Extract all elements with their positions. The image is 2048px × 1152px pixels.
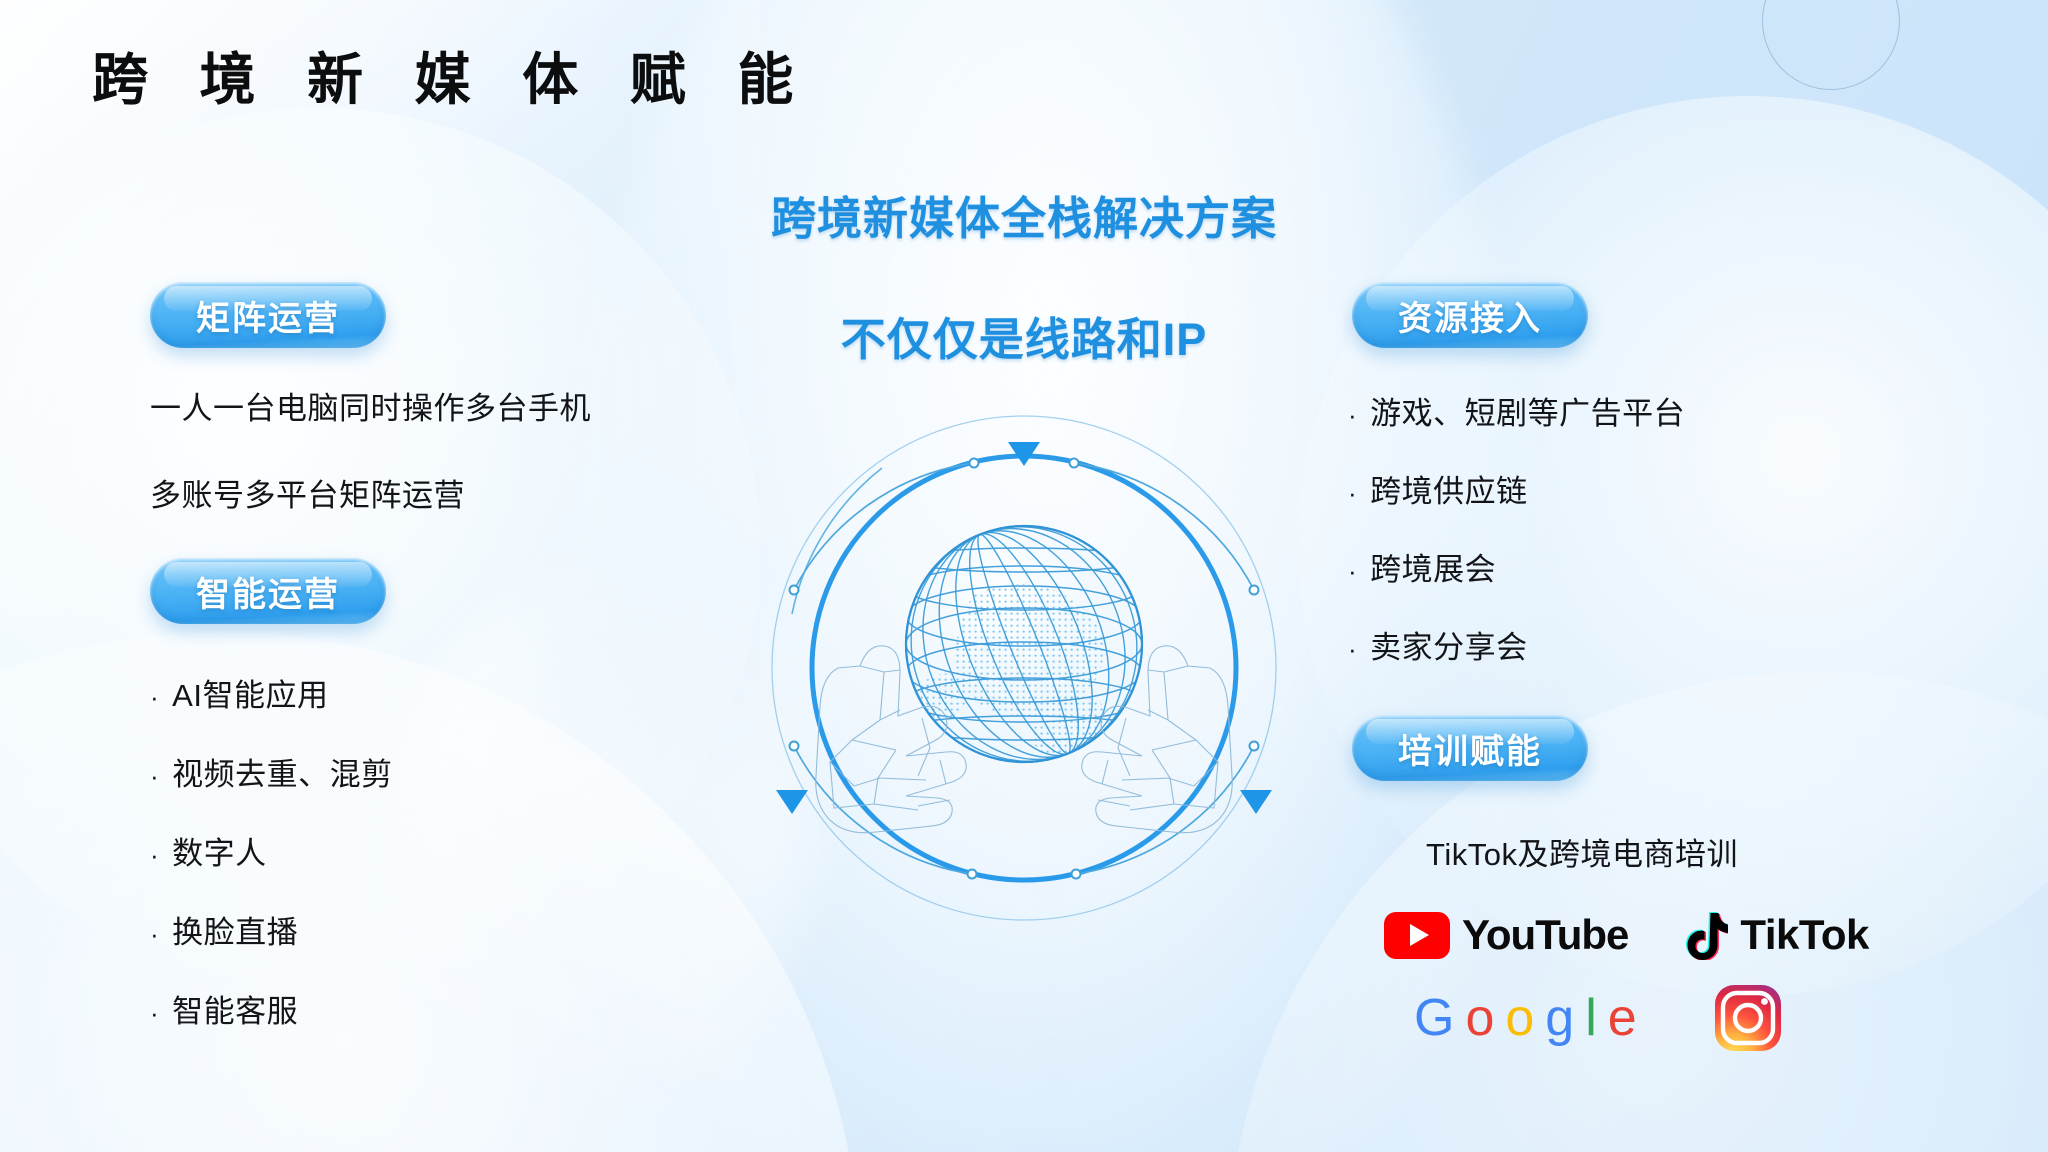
bullet-dot-icon: · <box>1348 636 1357 662</box>
youtube-logo: YouTube <box>1384 911 1628 959</box>
badge-resource-access[interactable]: 资源接入 <box>1352 282 1588 348</box>
training-description: TikTok及跨境电商培训 <box>1352 829 1812 874</box>
google-letter-g1: G <box>1414 988 1453 1048</box>
globe-in-hands-illustration <box>764 408 1284 928</box>
google-letter-o2: o <box>1505 988 1533 1048</box>
list-item: · 游戏、短剧等广告平台 <box>1348 388 1898 433</box>
list-item-label: 跨境供应链 <box>1370 466 1528 511</box>
instagram-camera-icon <box>1714 984 1782 1052</box>
list-item: · 智能客服 <box>150 986 710 1031</box>
logo-row-bottom: Google <box>1414 984 1898 1052</box>
list-item-label: 智能客服 <box>172 986 298 1031</box>
left-section-2-bullets: · AI智能应用 · 视频去重、混剪 · 数字人 · 换脸直播 · 智能客服 <box>150 670 710 1031</box>
bullet-dot-icon: · <box>1348 558 1357 584</box>
bullet-dot-icon: · <box>150 763 159 789</box>
list-item: · 跨境展会 <box>1348 544 1898 589</box>
google-letter-o1: o <box>1465 988 1493 1048</box>
list-item: · AI智能应用 <box>150 670 710 715</box>
bullet-dot-icon: · <box>150 842 159 868</box>
spacer <box>1338 667 1898 715</box>
right-section-1-bullets: · 游戏、短剧等广告平台 · 跨境供应链 · 跨境展会 · 卖家分享会 <box>1348 388 1898 667</box>
list-item-label: AI智能应用 <box>172 670 328 715</box>
badge-training-empowerment[interactable]: 培训赋能 <box>1352 715 1588 781</box>
logo-row-top: YouTube TikTok <box>1384 910 1898 960</box>
list-item: 多账号多平台矩阵运营 <box>150 477 710 514</box>
tiktok-logo: TikTok <box>1682 910 1868 960</box>
list-item-label: 换脸直播 <box>172 907 298 952</box>
left-column: 矩阵运营 一人一台电脑同时操作多台手机 多账号多平台矩阵运营 智能运营 · AI… <box>150 282 710 1031</box>
badge-resource-access-wrap: 资源接入 <box>1352 282 1898 348</box>
list-item-label: 数字人 <box>172 828 267 873</box>
tiktok-logo-label: TikTok <box>1740 911 1868 959</box>
tiktok-note-icon <box>1682 910 1728 960</box>
list-item: 一人一台电脑同时操作多台手机 <box>150 390 710 427</box>
google-letter-e: e <box>1608 988 1636 1048</box>
badge-training-empowerment-label: 培训赋能 <box>1398 724 1542 773</box>
badge-matrix-operations-label: 矩阵运营 <box>196 291 340 340</box>
list-item-label: 游戏、短剧等广告平台 <box>1370 388 1685 433</box>
left-section-1-lines: 一人一台电脑同时操作多台手机 多账号多平台矩阵运营 <box>150 390 710 514</box>
list-item: · 跨境供应链 <box>1348 466 1898 511</box>
bullet-dot-icon: · <box>150 684 159 710</box>
badge-matrix-operations[interactable]: 矩阵运营 <box>150 282 386 348</box>
list-item: · 数字人 <box>150 828 710 873</box>
list-item: · 换脸直播 <box>150 907 710 952</box>
list-item-label: 视频去重、混剪 <box>172 749 393 794</box>
page-title: 跨 境 新 媒 体 赋 能 <box>92 48 811 112</box>
bullet-dot-icon: · <box>1348 402 1357 428</box>
youtube-logo-label: YouTube <box>1462 911 1628 959</box>
list-item-label: 卖家分享会 <box>1370 622 1528 667</box>
google-logo: Google <box>1414 988 1636 1048</box>
bullet-dot-icon: · <box>1348 480 1357 506</box>
youtube-play-icon <box>1384 912 1450 959</box>
badge-training-empowerment-wrap: 培训赋能 <box>1352 715 1898 781</box>
right-column: 资源接入 · 游戏、短剧等广告平台 · 跨境供应链 · 跨境展会 · 卖家分享会 <box>1338 282 1898 1052</box>
list-item: · 卖家分享会 <box>1348 622 1898 667</box>
badge-smart-operations[interactable]: 智能运营 <box>150 558 386 624</box>
bullet-dot-icon: · <box>150 1000 159 1026</box>
center-heading-primary: 跨境新媒体全栈解决方案 <box>564 182 1484 247</box>
instagram-logo <box>1714 984 1782 1052</box>
bullet-dot-icon: · <box>150 921 159 947</box>
slide-canvas: 跨 境 新 媒 体 赋 能 跨境新媒体全栈解决方案 不仅仅是线路和IP <box>0 0 2048 1152</box>
google-letter-g2: g <box>1545 988 1573 1048</box>
spacer <box>150 514 710 558</box>
badge-resource-access-label: 资源接入 <box>1398 291 1542 340</box>
badge-smart-operations-label: 智能运营 <box>196 567 340 616</box>
list-item: · 视频去重、混剪 <box>150 749 710 794</box>
list-item-label: 跨境展会 <box>1370 544 1496 589</box>
decorative-ring-icon <box>1762 0 1900 90</box>
google-letter-l: l <box>1585 988 1596 1048</box>
